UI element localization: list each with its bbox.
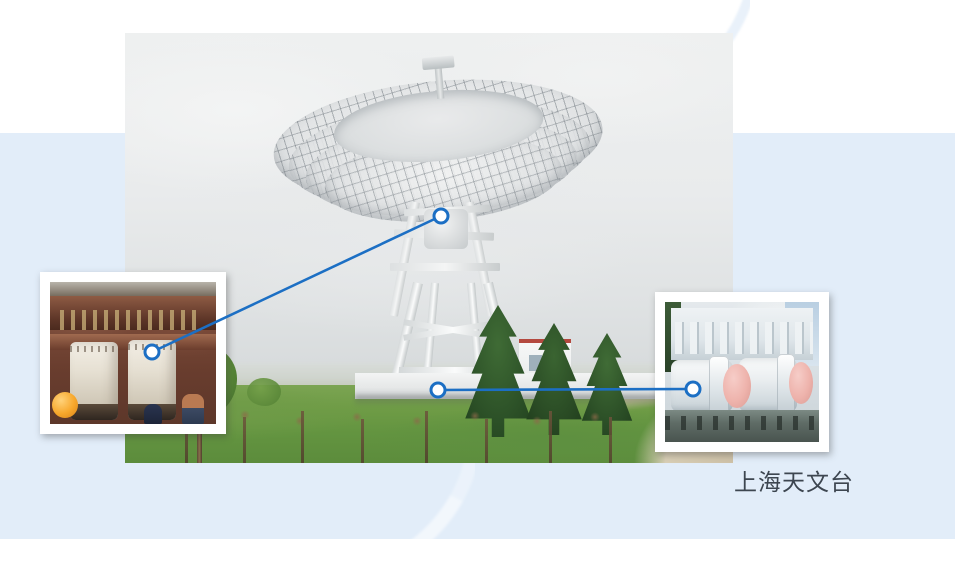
worker-silhouette-1 bbox=[182, 394, 204, 424]
sapling bbox=[425, 411, 428, 463]
installed-bearing-scene bbox=[665, 302, 819, 442]
sapling bbox=[609, 417, 612, 463]
slide-canvas: 上海天文台 bbox=[0, 0, 955, 539]
orange-marker-ball bbox=[52, 392, 78, 418]
worker-silhouette-2 bbox=[144, 404, 162, 424]
elevation-bearing-hub bbox=[424, 209, 468, 249]
hydrostatic-bearing-rusty-photo bbox=[40, 272, 226, 434]
sapling bbox=[243, 417, 246, 463]
yoke-brace-lower bbox=[390, 263, 500, 271]
azimuth-rail-base bbox=[665, 410, 819, 442]
hydrostatic-bearing-installed-photo bbox=[655, 292, 829, 452]
stiffener-fin-row bbox=[675, 322, 813, 354]
pink-end-cap-right bbox=[789, 362, 813, 404]
page-title: 上海天文台 bbox=[734, 469, 854, 498]
brass-bolt-row bbox=[60, 310, 200, 330]
rusty-bearing-scene bbox=[50, 282, 216, 424]
pink-end-cap-left bbox=[723, 364, 751, 408]
sapling bbox=[361, 419, 364, 463]
sapling bbox=[549, 411, 552, 463]
sapling bbox=[301, 411, 304, 463]
sapling bbox=[485, 419, 488, 463]
